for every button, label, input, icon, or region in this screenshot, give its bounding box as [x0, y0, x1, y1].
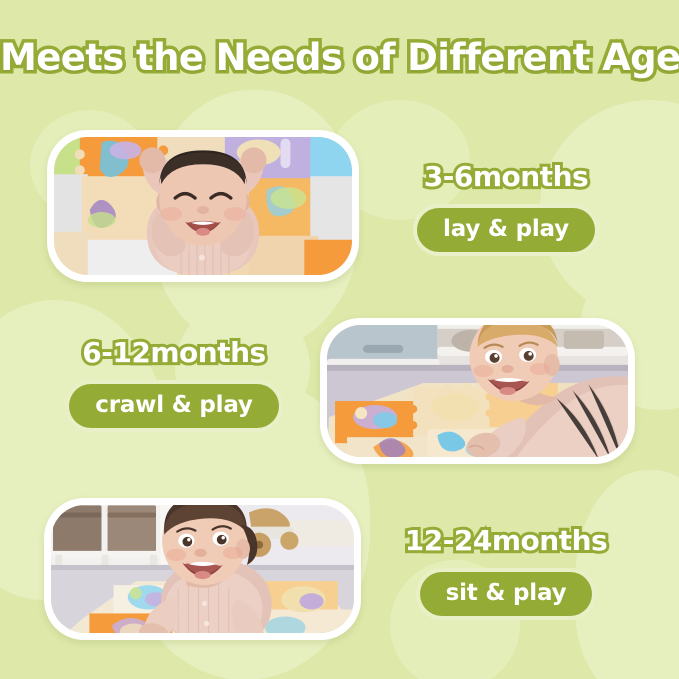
- caption-6-12-months: 6-12months crawl & play: [48, 336, 300, 428]
- activity-pill-12-24-months: sit & play: [420, 572, 593, 616]
- age-label-12-24-months: 12-24months: [405, 524, 607, 558]
- age-label-6-12-months: 6-12months: [82, 336, 265, 370]
- photo-6-12-months: [327, 325, 628, 457]
- photo-3-6-months: [54, 137, 352, 275]
- caption-12-24-months: 12-24months sit & play: [380, 524, 632, 616]
- photo-12-24-months: [51, 505, 354, 633]
- page-title: Meets the Needs of Different Age: [0, 36, 679, 80]
- poster-canvas: Meets the Needs of Different Age: [0, 0, 679, 679]
- age-label-3-6-months: 3-6months: [424, 160, 588, 194]
- photo-card-12-24-months: [44, 498, 361, 640]
- activity-pill-3-6-months: lay & play: [417, 208, 595, 252]
- caption-3-6-months: 3-6months lay & play: [380, 160, 632, 252]
- activity-pill-6-12-months: crawl & play: [69, 384, 278, 428]
- photo-card-3-6-months: [47, 130, 359, 282]
- photo-card-6-12-months: [320, 318, 635, 464]
- poster-title-wrapper: Meets the Needs of Different Age: [0, 36, 679, 80]
